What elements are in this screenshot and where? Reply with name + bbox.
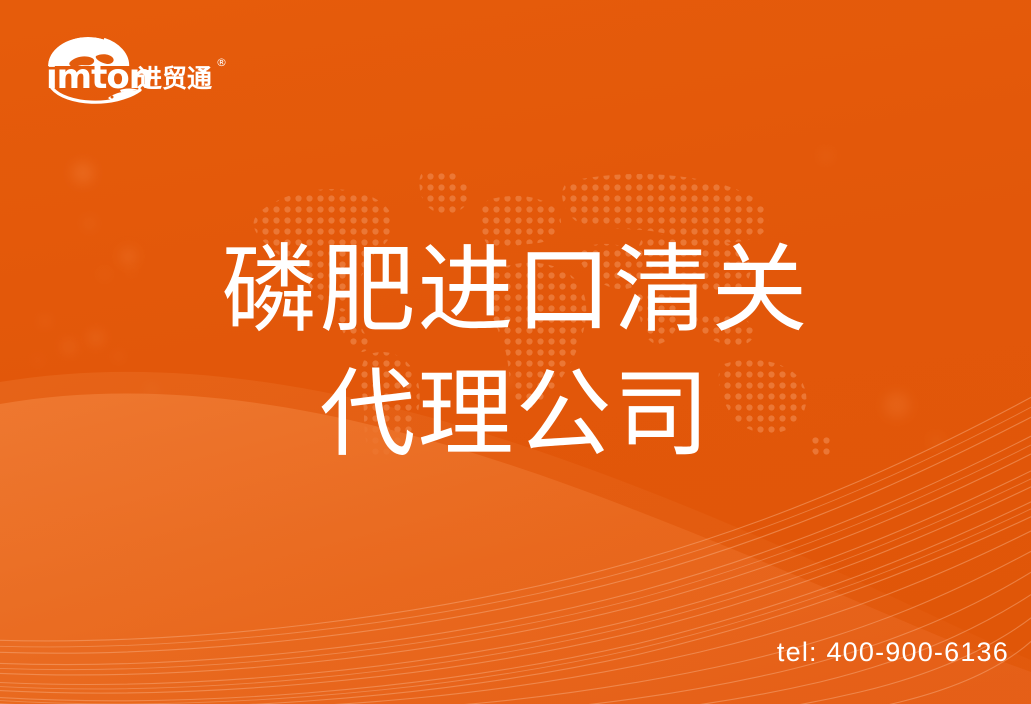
headline-line-2: 代理公司 (0, 352, 1031, 476)
logo-svg: imton 进贸通 ® (36, 28, 236, 104)
registered-trademark-icon: ® (216, 56, 227, 69)
bokeh-circle (72, 162, 94, 184)
headline-line-1: 磷肥进口清关 (0, 228, 1031, 352)
logo-chinese-name: 进贸通 (137, 64, 212, 93)
poster-canvas: imton 进贸通 ® 磷肥进口清关 代理公司 tel: 400-900-613… (0, 0, 1031, 704)
telephone-number[interactable]: tel: 400-900-6136 (777, 637, 1009, 668)
page-title: 磷肥进口清关 代理公司 (0, 228, 1031, 476)
company-logo[interactable]: imton 进贸通 ® (36, 28, 236, 104)
